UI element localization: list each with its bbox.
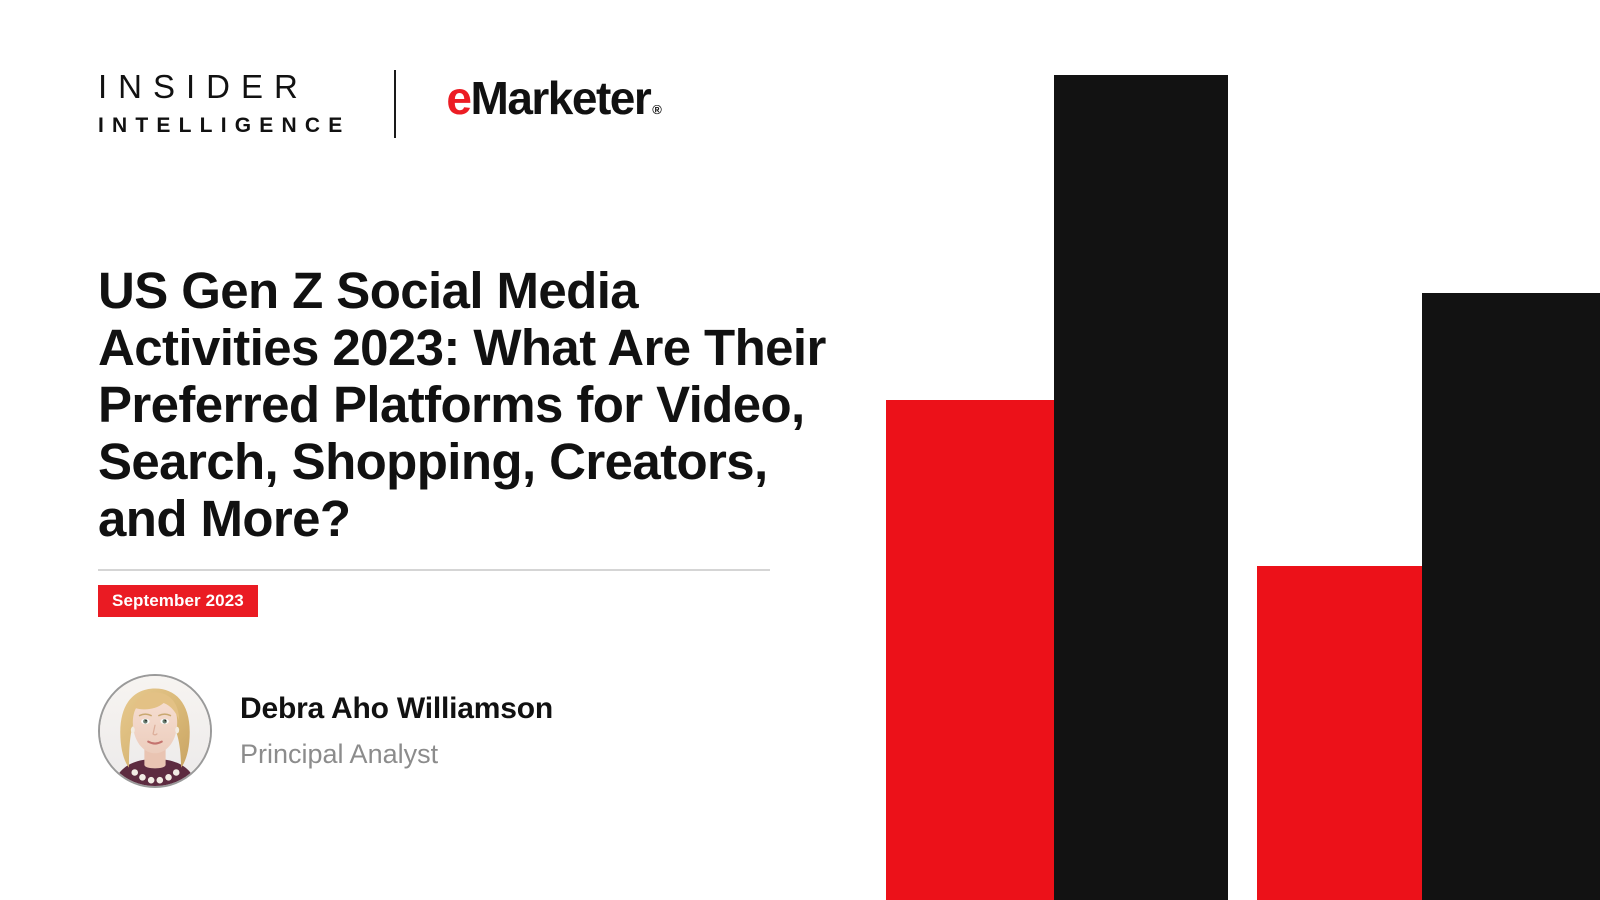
chart-bar-3 xyxy=(1257,566,1422,900)
vertical-divider-icon xyxy=(394,70,396,138)
emarketer-logo: eMarketer® xyxy=(446,75,660,133)
avatar xyxy=(98,674,212,788)
emarketer-e-glyph: e xyxy=(446,75,470,121)
author-role: Principal Analyst xyxy=(240,737,553,771)
insider-intelligence-logo: INSIDER INTELLIGENCE xyxy=(98,68,350,140)
author-block: Debra Aho Williamson Principal Analyst xyxy=(98,674,553,788)
publication-date-badge: September 2023 xyxy=(98,585,258,617)
registered-mark-icon: ® xyxy=(652,87,660,133)
author-name: Debra Aho Williamson xyxy=(240,691,553,727)
report-cover-slide: INSIDER INTELLIGENCE eMarketer® US Gen Z… xyxy=(0,0,1600,900)
chart-bar-2 xyxy=(1054,75,1228,900)
emarketer-wordmark: Marketer xyxy=(471,75,651,121)
chart-bar-4 xyxy=(1422,293,1600,900)
author-portrait-image xyxy=(100,676,210,786)
insider-intelligence-line2: INTELLIGENCE xyxy=(98,112,350,140)
brand-logo-row: INSIDER INTELLIGENCE eMarketer® xyxy=(98,68,660,140)
chart-bar-1 xyxy=(886,400,1054,900)
insider-intelligence-line1: INSIDER xyxy=(98,68,350,106)
page-title: US Gen Z Social Media Activities 2023: W… xyxy=(98,262,828,547)
title-divider xyxy=(98,569,770,571)
author-text: Debra Aho Williamson Principal Analyst xyxy=(240,691,553,771)
